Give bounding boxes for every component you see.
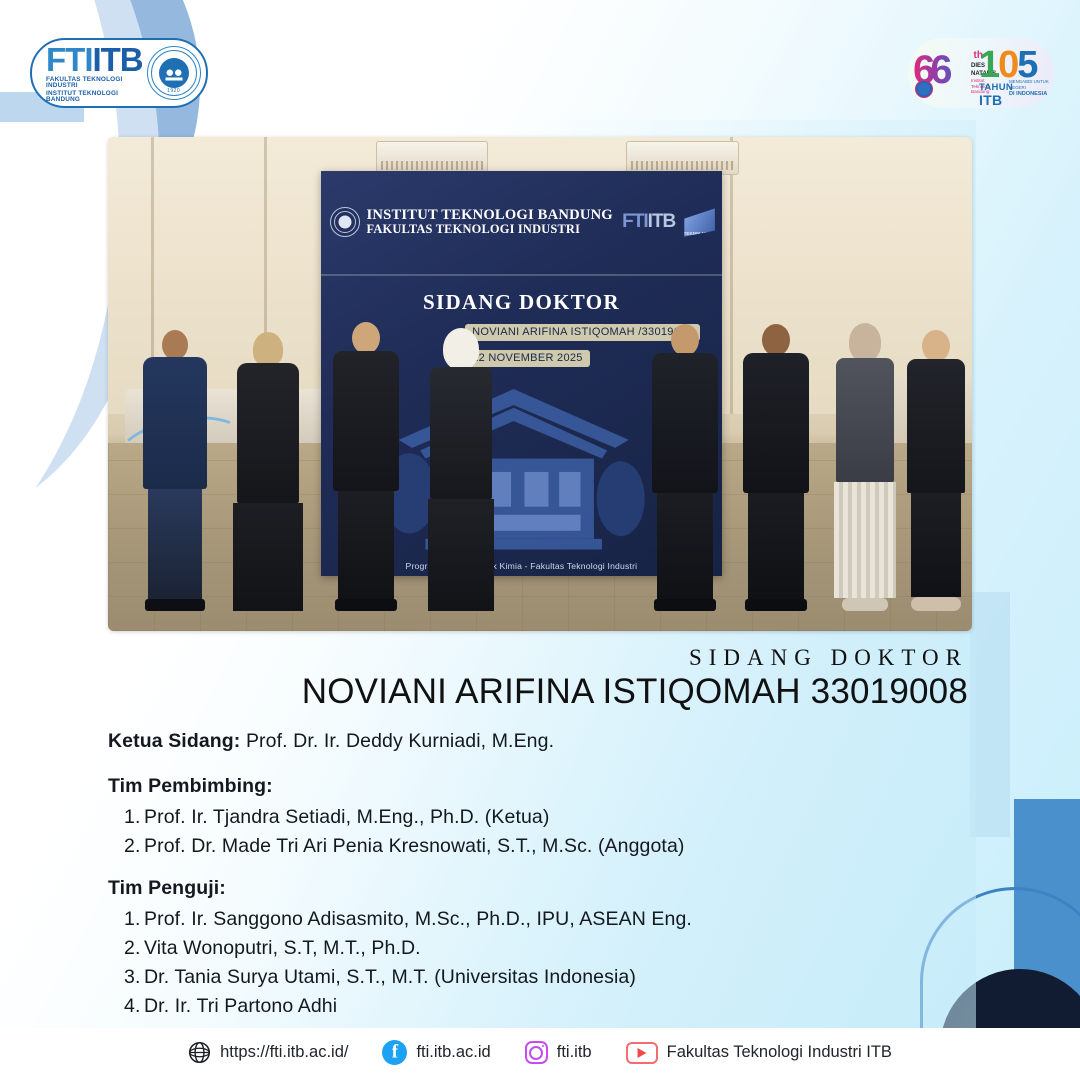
chair-value: Prof. Dr. Ir. Deddy Kurniadi, M.Eng.	[246, 730, 554, 752]
page-title: NOVIANI ARIFINA ISTIQOMAH 33019008	[302, 672, 968, 712]
decor-bottom-right-strip	[970, 592, 1010, 837]
list-item: 3.Dr. Tania Surya Utami, S.T., M.T. (Uni…	[124, 963, 968, 992]
banner-header-row: INSTITUT TEKNOLOGI BANDUNG FAKULTAS TEKN…	[321, 171, 723, 276]
photo-person	[652, 324, 718, 611]
footer-facebook-link[interactable]: fti.itb.ac.id	[382, 1040, 490, 1065]
list-item: 2.Vita Wonoputri, S.T, M.T., Ph.D.	[124, 934, 968, 963]
footer-bar: https://fti.itb.ac.id/ fti.itb.ac.id fti…	[0, 1028, 1080, 1077]
banner-teknik-kimia-caption: TEKNIK KIMIA	[682, 231, 716, 236]
list-item-text: Prof. Ir. Tjandra Setiadi, M.Eng., Ph.D.…	[144, 806, 549, 828]
globe-icon	[188, 1041, 211, 1064]
photo-person	[333, 322, 399, 611]
footer-website-link[interactable]: https://fti.itb.ac.id/	[188, 1041, 348, 1064]
banner-event-title: SIDANG DOKTOR	[321, 290, 723, 315]
facebook-icon	[382, 1040, 407, 1065]
list-item-text: Dr. Tania Surya Utami, S.T., M.T. (Unive…	[144, 966, 636, 988]
list-item-text: Dr. Ir. Tri Partono Adhi	[144, 995, 337, 1017]
list-item-number: 2.	[124, 832, 144, 861]
photo-person	[233, 332, 303, 611]
examiners-block: Tim Penguji: 1.Prof. Ir. Sanggono Adisas…	[108, 877, 968, 1021]
supervisors-block: Tim Pembimbing: 1.Prof. Ir. Tjandra Seti…	[108, 775, 968, 861]
photo-person	[743, 324, 809, 611]
anniversary-years-tagline: MENGABDI UNTUK NEGERI DI INDONESIA	[1009, 79, 1049, 98]
anniversary-66-group: 66 th DIES NATALIS Institut Teknologi Ba…	[913, 50, 971, 96]
banner-fti-wordmark: FTIITB	[622, 211, 675, 233]
supervisors-list: 1.Prof. Ir. Tjandra Setiadi, M.Eng., Ph.…	[108, 803, 968, 861]
photo-person	[907, 330, 965, 611]
youtube-icon	[626, 1042, 658, 1064]
anniversary-badge-icon: 66 th DIES NATALIS Institut Teknologi Ba…	[908, 38, 1054, 108]
banner-institution-line-1: INSTITUT TEKNOLOGI BANDUNG	[367, 207, 616, 223]
banner-itb-campus-illustration	[353, 381, 674, 555]
list-item-number: 2.	[124, 934, 144, 963]
list-item-number: 1.	[124, 905, 144, 934]
fti-itb-logo-icon: FTIITB FAKULTAS TEKNOLOGI INDUSTRI INSTI…	[30, 38, 208, 108]
photo-wall-seam	[730, 137, 733, 414]
list-item-text: Prof. Ir. Sanggono Adisasmito, M.Sc., Ph…	[144, 908, 692, 930]
fti-wordmark: FTIITB	[46, 43, 143, 76]
itb-seal-year: 1920	[148, 88, 200, 94]
fti-wordmark-group: FTIITB FAKULTAS TEKNOLOGI INDUSTRI INSTI…	[46, 43, 143, 104]
examiners-list: 1.Prof. Ir. Sanggono Adisasmito, M.Sc., …	[108, 905, 968, 1021]
supervisors-title: Tim Pembimbing:	[108, 775, 968, 798]
list-item: 4.Dr. Ir. Tri Partono Adhi	[124, 992, 968, 1021]
footer-youtube-label: Fakultas Teknologi Industri ITB	[667, 1043, 892, 1062]
itb-seal-core	[159, 58, 189, 88]
banner-institution-line-2: FAKULTAS TEKNOLOGI INDUSTRI	[367, 223, 616, 237]
list-item: 2.Prof. Dr. Made Tri Ari Penia Kresnowat…	[124, 832, 968, 861]
banner-itb-seal-icon	[330, 207, 360, 237]
footer-facebook-label: fti.itb.ac.id	[416, 1043, 490, 1062]
footer-instagram-label: fti.itb	[557, 1043, 592, 1062]
list-item-number: 1.	[124, 803, 144, 832]
footer-instagram-link[interactable]: fti.itb	[525, 1041, 592, 1064]
list-item-text: Prof. Dr. Made Tri Ari Penia Kresnowati,…	[144, 835, 685, 857]
list-item: 1.Prof. Ir. Sanggono Adisasmito, M.Sc., …	[124, 905, 968, 934]
page-kicker: SIDANG DOKTOR	[689, 645, 968, 671]
chair-label: Ketua Sidang:	[108, 730, 240, 752]
anniversary-years-number: 105	[979, 47, 1049, 83]
list-item: 1.Prof. Ir. Tjandra Setiadi, M.Eng., Ph.…	[124, 803, 968, 832]
instagram-icon	[525, 1041, 548, 1064]
anniversary-105-group: 105 TAHUN ITB MENGABDI UNTUK NEGERI DI I…	[979, 47, 1049, 99]
list-item-number: 3.	[124, 963, 144, 992]
examiners-title: Tim Penguji:	[108, 877, 968, 900]
list-item-number: 4.	[124, 992, 144, 1021]
chair-line: Ketua Sidang: Prof. Dr. Ir. Deddy Kurnia…	[108, 730, 968, 753]
photo-person	[834, 323, 896, 611]
itb-seal-icon: 1920	[147, 46, 201, 100]
banner-teknik-kimia-logo-icon: TEKNIK KIMIA	[682, 207, 716, 237]
sidang-doktor-group-photo: INSTITUT TEKNOLOGI BANDUNG FAKULTAS TEKN…	[108, 137, 972, 631]
photo-person	[143, 330, 207, 611]
fti-sub-line-1: FAKULTAS TEKNOLOGI INDUSTRI	[46, 77, 143, 90]
list-item-text: Vita Wonoputri, S.T, M.T., Ph.D.	[144, 937, 421, 959]
fti-sub-line-2: INSTITUT TEKNOLOGI BANDUNG	[46, 91, 143, 104]
anniversary-seal-dot	[915, 80, 933, 98]
poster-canvas: FTIITB FAKULTAS TEKNOLOGI INDUSTRI INSTI…	[0, 0, 1080, 1077]
banner-institution-titles: INSTITUT TEKNOLOGI BANDUNG FAKULTAS TEKN…	[367, 207, 616, 237]
details-section: Ketua Sidang: Prof. Dr. Ir. Deddy Kurnia…	[108, 730, 968, 1037]
photo-person-candidate	[428, 328, 494, 611]
footer-youtube-link[interactable]: Fakultas Teknologi Industri ITB	[626, 1042, 892, 1064]
footer-website-label: https://fti.itb.ac.id/	[220, 1043, 348, 1062]
